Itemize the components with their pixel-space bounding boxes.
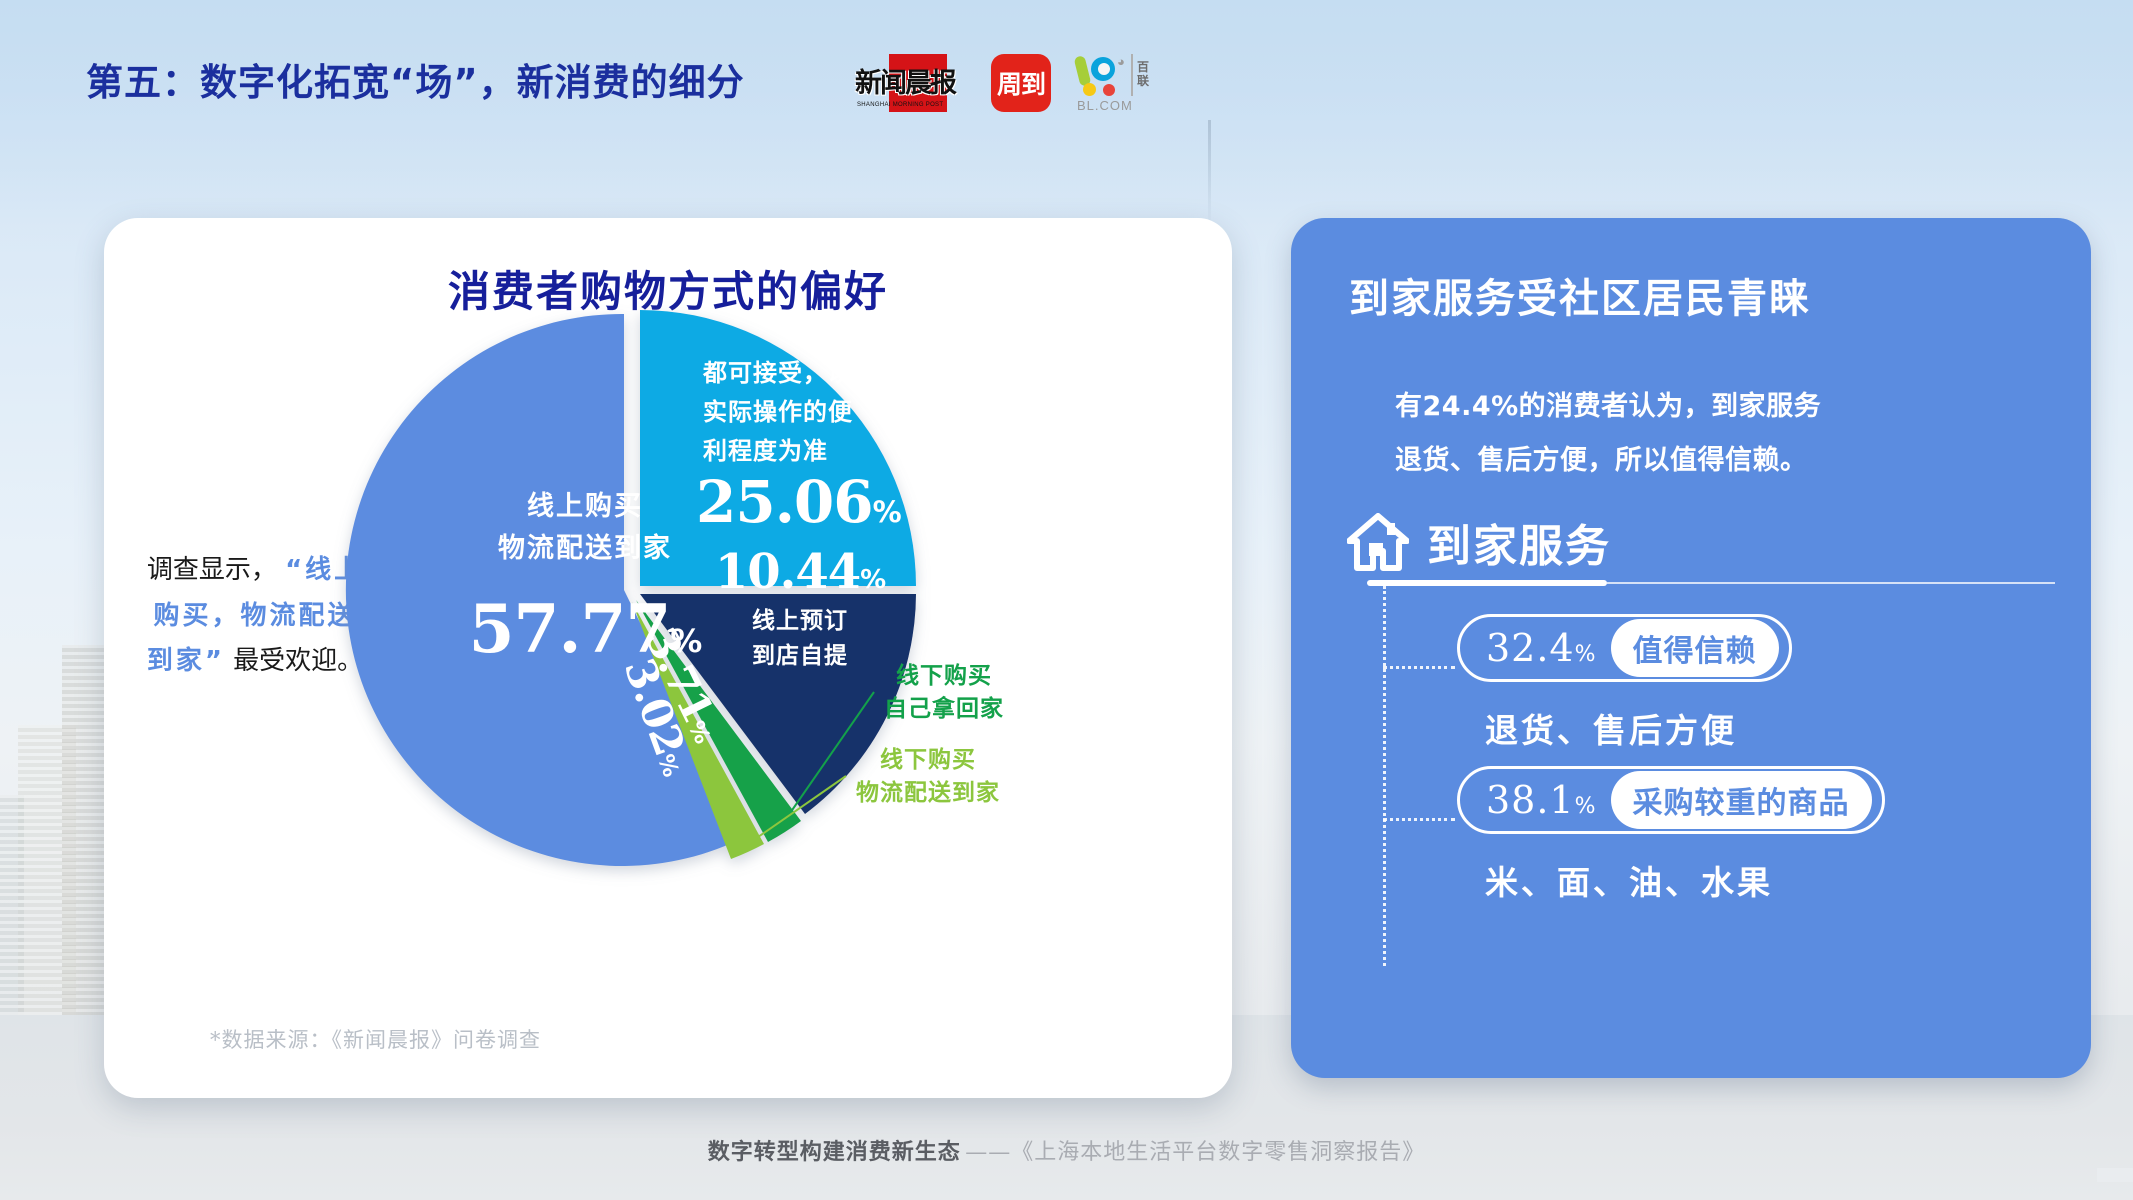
stat-pill-1-tag: 值得信赖 bbox=[1611, 619, 1779, 677]
chenbao-logo: 新闻晨报 SHANGHAI MORNING POST bbox=[855, 54, 965, 112]
footer-report-text: ——《上海本地生活平台数字零售洞察报告》 bbox=[965, 1140, 1425, 1165]
bailian-logo: ◕ 百 联 BL.COM bbox=[1077, 54, 1149, 112]
section-divider bbox=[1367, 580, 2055, 586]
tree-branch-1 bbox=[1383, 666, 1455, 669]
pie-chart: 线上购买 物流配送到家 57.77% 都可接受，以 实际操作的便 利程度为准 2… bbox=[318, 260, 958, 920]
source-note: *数据来源：《新闻晨报》问卷调查 bbox=[210, 1024, 541, 1054]
tree-trunk-line bbox=[1383, 586, 1386, 966]
stat-pill-2-number: 38.1 bbox=[1486, 778, 1575, 822]
skyline-building bbox=[62, 645, 108, 1015]
stat-pill-1-value: 32.4% bbox=[1486, 626, 1597, 670]
slide-header: 第五：数字化拓宽“场”，新消费的细分 新闻晨报 SHANGHAI MORNING… bbox=[0, 0, 2133, 150]
service-row-2: 38.1% 采购较重的商品 米、面、油、水果 bbox=[1457, 766, 2057, 904]
footer-corner-bar bbox=[2097, 1168, 2133, 1182]
panel-lede-line1: 有24.4%的消费者认为，到家服务 bbox=[1395, 380, 2055, 434]
service-heading-text: 到家服务 bbox=[1427, 510, 1611, 574]
pie-legend-offline-self: 线下购买 自己拿回家 bbox=[884, 660, 1004, 727]
service-row-1-desc: 退货、售后方便 bbox=[1457, 704, 2057, 752]
stat-pill-2-tag: 采购较重的商品 bbox=[1611, 771, 1872, 829]
skyline-building bbox=[0, 795, 24, 1015]
panel-lede: 有24.4%的消费者认为，到家服务 退货、售后方便，所以值得信赖。 bbox=[1395, 380, 2055, 488]
home-icon bbox=[1347, 513, 1409, 571]
stat-pill-2-suffix: % bbox=[1575, 794, 1597, 819]
stat-pill-2[interactable]: 38.1% 采购较重的商品 bbox=[1457, 766, 1885, 834]
pie-label-online-pickup-line1: 线上预订 bbox=[670, 604, 930, 639]
pie-label-online-delivery-line1: 线上购买 bbox=[440, 486, 730, 528]
pie-legend-offline-self-line2: 自己拿回家 bbox=[884, 693, 1004, 726]
service-row-1: 32.4% 值得信赖 退货、售后方便 bbox=[1457, 614, 2057, 752]
pie-value-online-pickup-number: 10.44 bbox=[715, 544, 860, 600]
pie-value-both-acceptable: 25.06% bbox=[696, 468, 936, 536]
pie-value-online-pickup-suffix: % bbox=[860, 565, 885, 595]
panel-title: 到家服务受社区居民青睐 bbox=[1349, 266, 1811, 324]
slide-footer: 数字转型构建消费新生态 ——《上海本地生活平台数字零售洞察报告》 bbox=[0, 1134, 2133, 1166]
chenbao-logo-subtext: SHANGHAI MORNING POST bbox=[857, 102, 943, 108]
pie-value-both-acceptable-suffix: % bbox=[873, 495, 901, 529]
tree-branch-2 bbox=[1383, 818, 1455, 821]
home-service-panel: 到家服务受社区居民青睐 有24.4%的消费者认为，到家服务 退货、售后方便，所以… bbox=[1291, 218, 2091, 1078]
pie-value-online-pickup: 10.44% bbox=[670, 544, 930, 600]
stat-pill-2-value: 38.1% bbox=[1486, 778, 1597, 822]
bailian-char-1: 百 bbox=[1137, 61, 1149, 75]
pie-label-both-acceptable-line2: 实际操作的便 bbox=[703, 393, 903, 432]
divider-thin bbox=[1607, 582, 2055, 584]
bailian-cn-text: 百 联 bbox=[1131, 54, 1149, 96]
zhoudao-logo: 周到 bbox=[991, 54, 1051, 112]
bailian-domain-text: BL.COM bbox=[1077, 98, 1133, 113]
pie-label-both-acceptable-line1: 都可接受，以 bbox=[703, 354, 903, 393]
chenbao-logo-text: 新闻晨报 bbox=[855, 70, 955, 97]
stat-pill-1-suffix: % bbox=[1575, 642, 1597, 667]
pie-value-both-acceptable-number: 25.06 bbox=[696, 468, 873, 536]
pie-label-both-acceptable: 都可接受，以 实际操作的便 利程度为准 bbox=[703, 354, 903, 471]
logo-group: 新闻晨报 SHANGHAI MORNING POST 周到 ◕ 百 联 BL.C… bbox=[855, 52, 1149, 114]
stat-pill-1-number: 32.4 bbox=[1486, 626, 1575, 670]
panel-lede-line2: 退货、售后方便，所以值得信赖。 bbox=[1395, 434, 2055, 488]
pie-legend-offline-delivery: 线下购买 物流配送到家 bbox=[856, 744, 1000, 811]
service-row-2-desc: 米、面、油、水果 bbox=[1457, 856, 2057, 904]
pie-label-both-acceptable-line3: 利程度为准 bbox=[703, 432, 903, 471]
pie-legend-offline-delivery-line2: 物流配送到家 bbox=[856, 777, 1000, 810]
survey-note-line1: 调查显示， bbox=[147, 555, 277, 585]
stat-pill-1[interactable]: 32.4% 值得信赖 bbox=[1457, 614, 1792, 682]
pie-legend-offline-self-line1: 线下购买 bbox=[884, 660, 1004, 693]
pie-legend-offline-delivery-line1: 线下购买 bbox=[856, 744, 1000, 777]
chart-card: 消费者购物方式的偏好 调查显示， “线上购买，物流配送到家” 最受欢迎。 bbox=[104, 218, 1232, 1098]
footer-main-text: 数字转型构建消费新生态 bbox=[708, 1140, 961, 1165]
page-title: 第五：数字化拓宽“场”，新消费的细分 bbox=[86, 52, 745, 106]
service-heading-group: 到家服务 bbox=[1347, 510, 1611, 574]
wifi-icon: ◕ bbox=[1117, 54, 1125, 69]
bailian-char-2: 联 bbox=[1137, 75, 1149, 89]
divider-thick bbox=[1367, 580, 1607, 586]
